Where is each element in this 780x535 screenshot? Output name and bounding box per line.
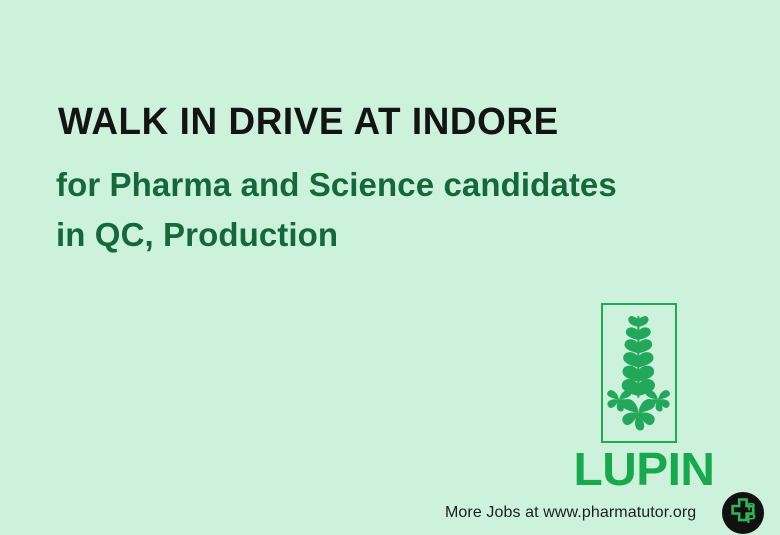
- lupin-flower-emblem-icon: [601, 303, 677, 443]
- page-title: WALK IN DRIVE AT INDORE: [58, 101, 559, 144]
- pharmatutor-logo-icon: R P: [722, 492, 764, 534]
- subtitle-line-2: in QC, Production: [56, 210, 736, 260]
- company-logo: LUPIN: [556, 303, 732, 493]
- source-credit: More Jobs at www.pharmatutor.org: [445, 504, 696, 522]
- subtitle: for Pharma and Science candidates in QC,…: [56, 160, 736, 260]
- job-advert-banner: WALK IN DRIVE AT INDORE for Pharma and S…: [0, 0, 780, 535]
- lupin-wordmark: LUPIN: [552, 446, 735, 492]
- subtitle-line-1: for Pharma and Science candidates: [56, 160, 736, 210]
- svg-text:P: P: [747, 510, 756, 526]
